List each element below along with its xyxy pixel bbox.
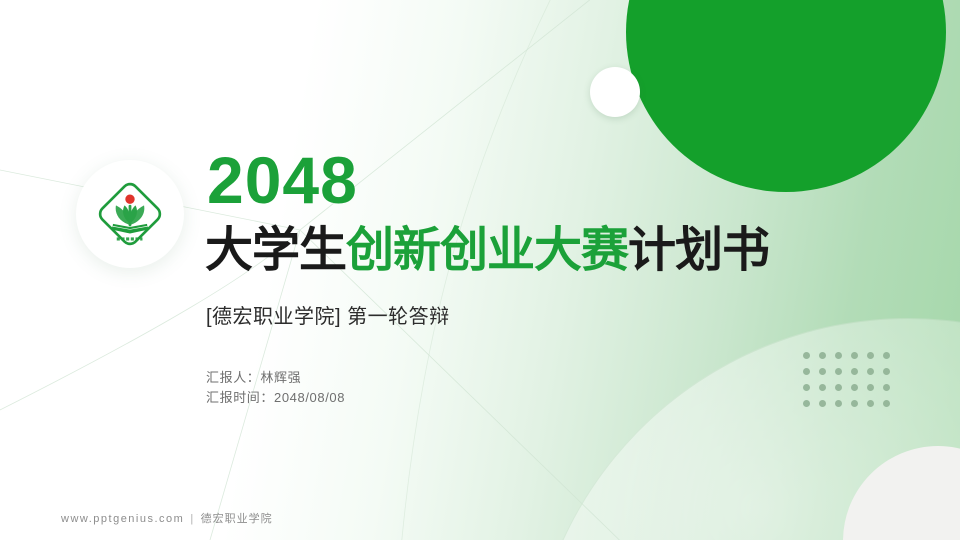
school-logo-badge [76, 160, 184, 268]
school-logo-icon [91, 175, 169, 253]
presenter-meta: 汇报人：林辉强 汇报时间：2048/08/08 [206, 368, 345, 408]
presentation-date: 汇报时间：2048/08/08 [206, 388, 345, 408]
main-title-part-3: 计划书 [628, 224, 769, 277]
main-title: 大学生创新创业大赛计划书 [205, 225, 769, 277]
presentation-title-slide: 2048 大学生创新创业大赛计划书 [德宏职业学院] 第一轮答辩 汇报人：林辉强… [0, 0, 960, 540]
footer: www.pptgenius.com|德宏职业学院 [61, 510, 273, 526]
main-title-part-2: 创新创业大赛 [346, 224, 628, 277]
subtitle: [德宏职业学院] 第一轮答辩 [206, 300, 450, 329]
main-title-part-1: 大学生 [205, 224, 346, 277]
footer-org: 德宏职业学院 [201, 513, 273, 525]
background-white-dot [590, 67, 640, 117]
dot-grid-decoration [803, 352, 899, 416]
year-heading: 2048 [207, 147, 358, 213]
footer-separator: | [190, 513, 194, 525]
background-green-circle [626, 0, 946, 192]
footer-site: www.pptgenius.com [61, 513, 184, 525]
presenter-name: 汇报人：林辉强 [206, 368, 345, 388]
